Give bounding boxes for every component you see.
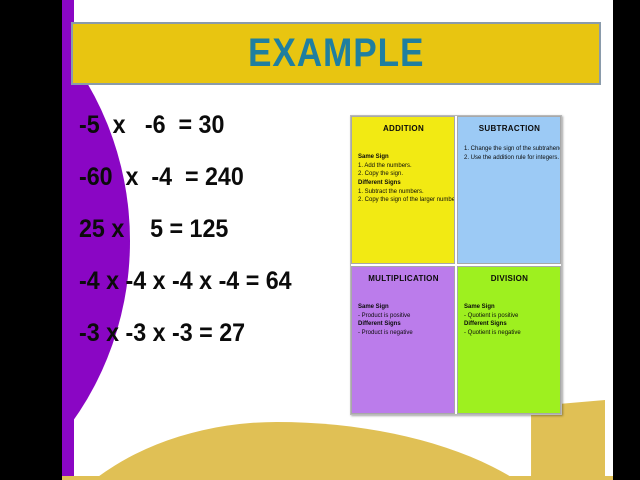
slide-canvas: EXAMPLE -5 x -6 = 30 -60 x -4 = 240 25 x…	[62, 0, 613, 480]
table-cell-addition: ADDITION Same Sign 1. Add the numbers. 2…	[351, 116, 455, 264]
rule-line: 2. Use the addition rule for integers.	[464, 154, 555, 163]
rule-heading: Same Sign	[464, 303, 555, 312]
cell-title: MULTIPLICATION	[358, 274, 449, 283]
rule-line: - Quotient is positive	[464, 312, 555, 321]
rule-line: 1. Change the sign of the subtrahend.	[464, 145, 555, 154]
rule-heading: Different Signs	[358, 320, 449, 329]
equation-line: 25 x 5 = 125	[79, 217, 330, 242]
letterbox-bar-right	[613, 0, 640, 480]
equations-list: -5 x -6 = 30 -60 x -4 = 240 25 x 5 = 125…	[79, 113, 349, 373]
gold-baseline-decoration	[62, 476, 613, 480]
rule-line: - Quotient is negative	[464, 329, 555, 338]
integer-rules-table: ADDITION Same Sign 1. Add the numbers. 2…	[350, 115, 562, 415]
cell-body: Same Sign - Quotient is positive Differe…	[464, 303, 555, 338]
rule-line: - Product is positive	[358, 312, 449, 321]
cell-body: Same Sign - Product is positive Differen…	[358, 303, 449, 338]
cell-title: ADDITION	[358, 124, 449, 133]
video-frame: EXAMPLE -5 x -6 = 30 -60 x -4 = 240 25 x…	[0, 0, 640, 480]
cell-body: 1. Change the sign of the subtrahend. 2.…	[464, 145, 555, 162]
letterbox-bar-left	[0, 0, 62, 480]
rule-line: 2. Copy the sign of the larger number.	[358, 196, 449, 205]
equation-line: -5 x -6 = 30	[79, 113, 330, 138]
equation-line: -4 x -4 x -4 x -4 = 64	[79, 269, 330, 294]
gold-wave-decoration	[62, 422, 582, 480]
table-cell-multiplication: MULTIPLICATION Same Sign - Product is po…	[351, 266, 455, 414]
title-banner: EXAMPLE	[71, 22, 601, 85]
rule-line: 1. Subtract the numbers.	[358, 188, 449, 197]
rule-heading: Different Signs	[464, 320, 555, 329]
rule-line: 1. Add the numbers.	[358, 162, 449, 171]
table-cell-subtraction: SUBTRACTION 1. Change the sign of the su…	[457, 116, 561, 264]
rule-heading: Different Signs	[358, 179, 449, 188]
cell-title: DIVISION	[464, 274, 555, 283]
table-cell-division: DIVISION Same Sign - Quotient is positiv…	[457, 266, 561, 414]
equation-line: -3 x -3 x -3 = 27	[79, 321, 330, 346]
rule-line: - Product is negative	[358, 329, 449, 338]
cell-title: SUBTRACTION	[464, 124, 555, 133]
cell-body: Same Sign 1. Add the numbers. 2. Copy th…	[358, 153, 449, 205]
rule-heading: Same Sign	[358, 153, 449, 162]
equation-line: -60 x -4 = 240	[79, 165, 330, 190]
rule-heading: Same Sign	[358, 303, 449, 312]
page-title: EXAMPLE	[248, 31, 424, 76]
rule-line: 2. Copy the sign.	[358, 170, 449, 179]
